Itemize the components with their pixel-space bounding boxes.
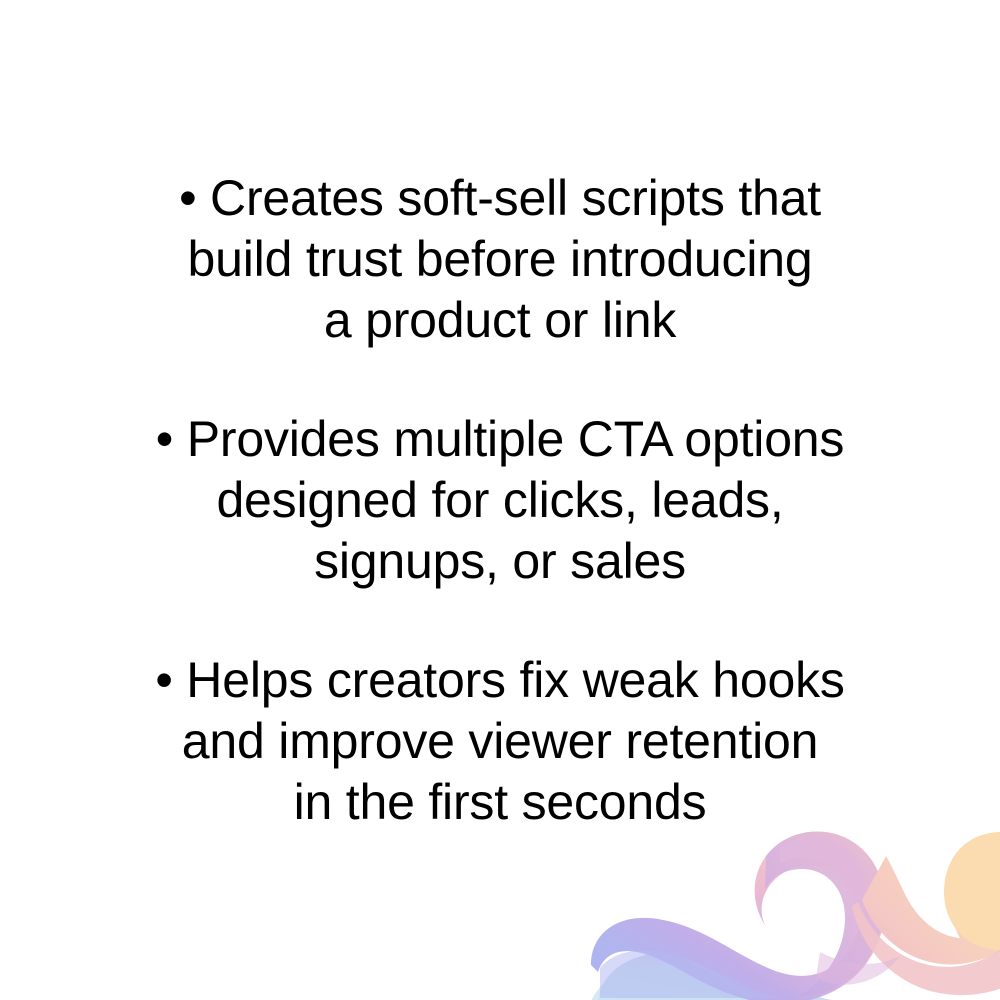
bullet-text-body: • Creates soft-sell scripts that build t… [120,168,880,833]
bullet-spacer-2 [120,592,880,650]
ribbon-loop-violet [765,832,885,996]
ribbon-tail-peach [852,832,1000,995]
bullet-spacer-1 [120,351,880,409]
slide-canvas: • Creates soft-sell scripts that build t… [0,0,1000,1000]
ribbon-blend-overlays [600,951,900,998]
bullet-item-1: • Creates soft-sell scripts that build t… [120,168,880,351]
ribbon-main-gradient [591,832,885,1000]
bullet-item-3: • Helps creators fix weak hooks and impr… [120,650,880,833]
bullet-item-2: • Provides multiple CTA options designed… [120,409,880,592]
ribbon-back-pale-blue [590,952,860,1000]
